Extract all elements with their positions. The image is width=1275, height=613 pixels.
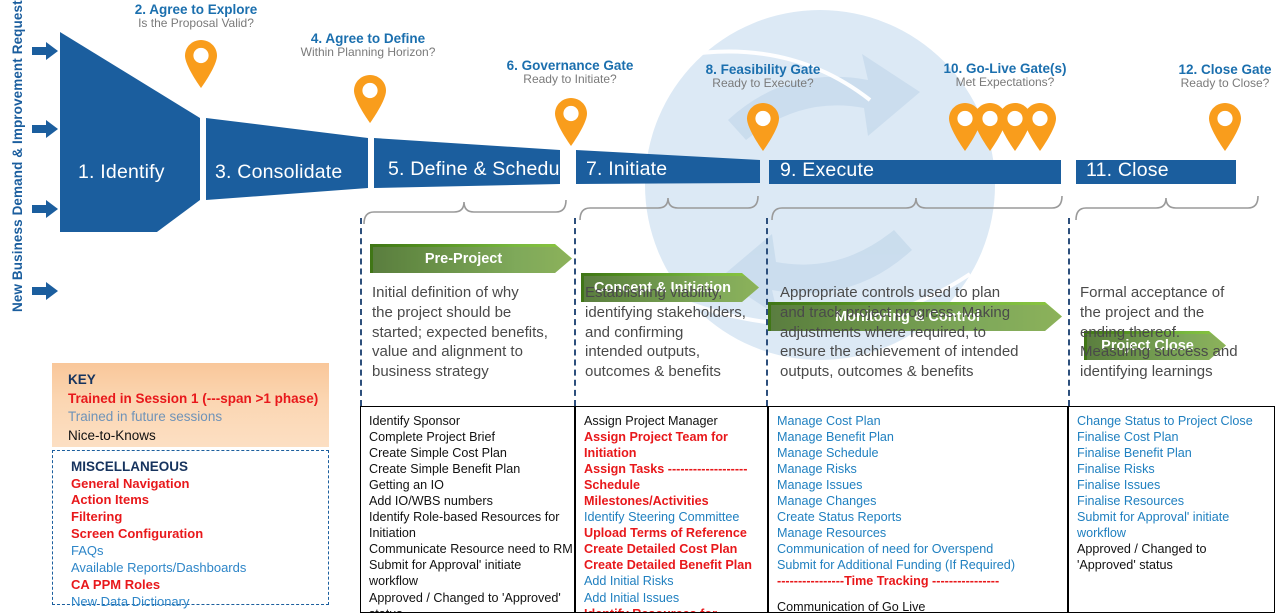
key-legend-box: KEY Trained in Session 1 (---span >1 pha… bbox=[52, 363, 329, 447]
gate-12-title: 12. Close Gate bbox=[1125, 62, 1275, 77]
task-item: Communicate Resource need to RM bbox=[369, 541, 574, 557]
key-line-black: Nice-to-Knows bbox=[68, 427, 319, 446]
inbound-arrow-icon bbox=[32, 282, 58, 300]
gate-6-pin-icon[interactable] bbox=[554, 98, 588, 146]
gate-8-pin-icon[interactable] bbox=[746, 103, 780, 151]
inbound-arrow-icon bbox=[32, 200, 58, 218]
task-item: Submit for Additional Funding (If Requir… bbox=[777, 557, 1067, 573]
task-item: Finalise Cost Plan bbox=[1077, 429, 1274, 445]
task-item: Finalise Benefit Plan bbox=[1077, 445, 1274, 461]
task-item: Create Simple Benefit Plan bbox=[369, 461, 574, 477]
task-item: Getting an IO bbox=[369, 477, 574, 493]
task-item: Create Detailed Benefit Plan bbox=[584, 557, 767, 573]
task-item: Submit for Approval' initiate workflow bbox=[369, 557, 574, 589]
miscellaneous-list: General NavigationAction ItemsFilteringS… bbox=[71, 476, 318, 611]
task-item: Manage Risks bbox=[777, 461, 1067, 477]
miscellaneous-item: Filtering bbox=[71, 509, 318, 526]
stage-description-monitoring-control: Appropriate controls used to plan and tr… bbox=[780, 283, 1070, 382]
gate-10-title: 10. Go-Live Gate(s) bbox=[905, 61, 1105, 76]
gate-10-question: Met Expectations? bbox=[905, 76, 1105, 89]
task-item: Upload Terms of Reference bbox=[584, 525, 767, 541]
stage-description-pre-project: Initial definition of why the project sh… bbox=[372, 283, 568, 382]
task-item: Identify Steering Committee bbox=[584, 509, 767, 525]
task-item: Identify Role-based Resources for Initia… bbox=[369, 509, 574, 541]
column-divider bbox=[766, 218, 768, 406]
stage-banner-pre-project: Pre-Project bbox=[370, 244, 572, 273]
task-item: Finalise Risks bbox=[1077, 461, 1274, 477]
task-item: Add Initial Risks bbox=[584, 573, 767, 589]
brace-pre-project bbox=[362, 200, 568, 226]
brace-project-close bbox=[1074, 196, 1260, 222]
gate-6-title: 6. Governance Gate bbox=[470, 58, 670, 73]
funnel-phase-3-label: 3. Consolidate bbox=[215, 161, 342, 184]
task-item: Manage Schedule bbox=[777, 445, 1067, 461]
task-list-pre-project: Identify SponsorComplete Project BriefCr… bbox=[361, 407, 574, 613]
task-item: Identify Resources for Execution bbox=[584, 606, 767, 613]
task-item: Manage Cost Plan bbox=[777, 413, 1067, 429]
left-axis-label: New Business Demand & Improvement Reques… bbox=[10, 12, 34, 312]
gate-6-label: 6. Governance Gate Ready to Initiate? bbox=[470, 58, 670, 87]
gate-8-question: Ready to Execute? bbox=[663, 77, 863, 90]
task-item: Add Initial Issues bbox=[584, 590, 767, 606]
task-item: Finalise Issues bbox=[1077, 477, 1274, 493]
column-divider bbox=[360, 218, 362, 406]
task-item: Manage Benefit Plan bbox=[777, 429, 1067, 445]
task-spacer bbox=[777, 590, 1067, 599]
miscellaneous-item: New Data Dictionary bbox=[71, 594, 318, 611]
gate-12-pin-icon[interactable] bbox=[1208, 103, 1242, 151]
miscellaneous-item: CA PPM Roles bbox=[71, 577, 318, 594]
task-box-concept-initiation: Assign Project ManagerAssign Project Tea… bbox=[575, 406, 768, 613]
miscellaneous-item: FAQs bbox=[71, 543, 318, 560]
inbound-arrow-icon bbox=[32, 120, 58, 138]
gate-10-pin-icon[interactable] bbox=[1023, 103, 1057, 151]
task-item: Create Status Reports bbox=[777, 509, 1067, 525]
miscellaneous-item: Action Items bbox=[71, 492, 318, 509]
funnel-phase-3 bbox=[206, 118, 368, 200]
task-item: Finalise Resources bbox=[1077, 493, 1274, 509]
gate-2-question: Is the Proposal Valid? bbox=[96, 17, 296, 30]
key-title: KEY bbox=[68, 371, 319, 390]
funnel-phase-11-label: 11. Close bbox=[1086, 159, 1169, 182]
task-item: Assign Tasks ------------------- bbox=[584, 461, 767, 477]
funnel-phase-1 bbox=[60, 32, 200, 232]
task-item: Complete Project Brief bbox=[369, 429, 574, 445]
key-line-red: Trained in Session 1 (---span >1 phase) bbox=[68, 390, 319, 409]
gate-12-question: Ready to Close? bbox=[1125, 77, 1275, 90]
key-line-blue: Trained in future sessions bbox=[68, 408, 319, 427]
inbound-arrow-icon bbox=[32, 42, 58, 60]
gate-4-title: 4. Agree to Define bbox=[268, 31, 468, 46]
gate-4-pin-icon[interactable] bbox=[353, 75, 387, 123]
gate-2-title: 2. Agree to Explore bbox=[96, 2, 296, 17]
gate-8-label: 8. Feasibility Gate Ready to Execute? bbox=[663, 62, 863, 91]
brace-monitoring-control bbox=[770, 196, 1064, 222]
task-list-monitoring-control: Manage Cost PlanManage Benefit PlanManag… bbox=[769, 407, 1067, 613]
stage-description-project-close: Formal acceptance of the project and the… bbox=[1080, 283, 1272, 382]
task-item: ----------------Time Tracking ----------… bbox=[777, 573, 1067, 589]
funnel-phase-9-label: 9. Execute bbox=[780, 159, 874, 182]
task-item: Manage Changes bbox=[777, 493, 1067, 509]
gate-2-label: 2. Agree to Explore Is the Proposal Vali… bbox=[96, 2, 296, 31]
task-item: Assign Project Team for Initiation bbox=[584, 429, 767, 461]
miscellaneous-box: MISCELLANEOUS General NavigationAction I… bbox=[52, 450, 329, 605]
funnel-phase-7-label: 7. Initiate bbox=[586, 158, 667, 181]
gate-12-label: 12. Close Gate Ready to Close? bbox=[1125, 62, 1275, 91]
miscellaneous-item: Screen Configuration bbox=[71, 526, 318, 543]
brace-concept-initiation bbox=[578, 196, 760, 222]
task-list-project-close: Change Status to Project CloseFinalise C… bbox=[1069, 407, 1274, 573]
task-item: Add IO/WBS numbers bbox=[369, 493, 574, 509]
funnel-phase-5-label: 5. Define & Schedule bbox=[388, 158, 575, 181]
miscellaneous-title: MISCELLANEOUS bbox=[71, 458, 318, 476]
stage-description-concept-initiation: Establishing viability, identifying stak… bbox=[585, 283, 765, 382]
gate-8-title: 8. Feasibility Gate bbox=[663, 62, 863, 77]
gate-4-label: 4. Agree to Define Within Planning Horiz… bbox=[268, 31, 468, 60]
task-item: Approved / Changed to 'Approved' status bbox=[369, 590, 574, 613]
stage-banner-pre-project-label: Pre-Project bbox=[425, 251, 502, 267]
task-item: Create Simple Cost Plan bbox=[369, 445, 574, 461]
task-item: Identify Sponsor bbox=[369, 413, 574, 429]
task-item: Create Detailed Cost Plan bbox=[584, 541, 767, 557]
process-diagram: New Business Demand & Improvement Reques… bbox=[0, 0, 1275, 613]
task-item: Change Status to Project Close bbox=[1077, 413, 1274, 429]
task-item: Approved / Changed to 'Approved' status bbox=[1077, 541, 1274, 573]
funnel-phase-1-label: 1. Identify bbox=[78, 161, 165, 184]
task-item: Assign Project Manager bbox=[584, 413, 767, 429]
task-item: Schedule Milestones/Activities bbox=[584, 477, 767, 509]
task-item: Submit for Approval' initiate workflow bbox=[1077, 509, 1274, 541]
gate-4-question: Within Planning Horizon? bbox=[268, 46, 468, 59]
gate-2-pin-icon[interactable] bbox=[184, 40, 218, 88]
task-list-concept-initiation: Assign Project ManagerAssign Project Tea… bbox=[576, 407, 767, 613]
task-item: Communication of need for Overspend bbox=[777, 541, 1067, 557]
task-item: Manage Resources bbox=[777, 525, 1067, 541]
gate-6-question: Ready to Initiate? bbox=[470, 73, 670, 86]
gate-10-label: 10. Go-Live Gate(s) Met Expectations? bbox=[905, 61, 1105, 90]
task-box-pre-project: Identify SponsorComplete Project BriefCr… bbox=[360, 406, 575, 613]
column-divider bbox=[574, 218, 576, 406]
miscellaneous-item: General Navigation bbox=[71, 476, 318, 493]
task-box-monitoring-control: Manage Cost PlanManage Benefit PlanManag… bbox=[768, 406, 1068, 613]
task-box-project-close: Change Status to Project CloseFinalise C… bbox=[1068, 406, 1275, 613]
miscellaneous-item: Available Reports/Dashboards bbox=[71, 560, 318, 577]
task-item: Communication of Go Live bbox=[777, 599, 1067, 613]
task-item: Manage Issues bbox=[777, 477, 1067, 493]
